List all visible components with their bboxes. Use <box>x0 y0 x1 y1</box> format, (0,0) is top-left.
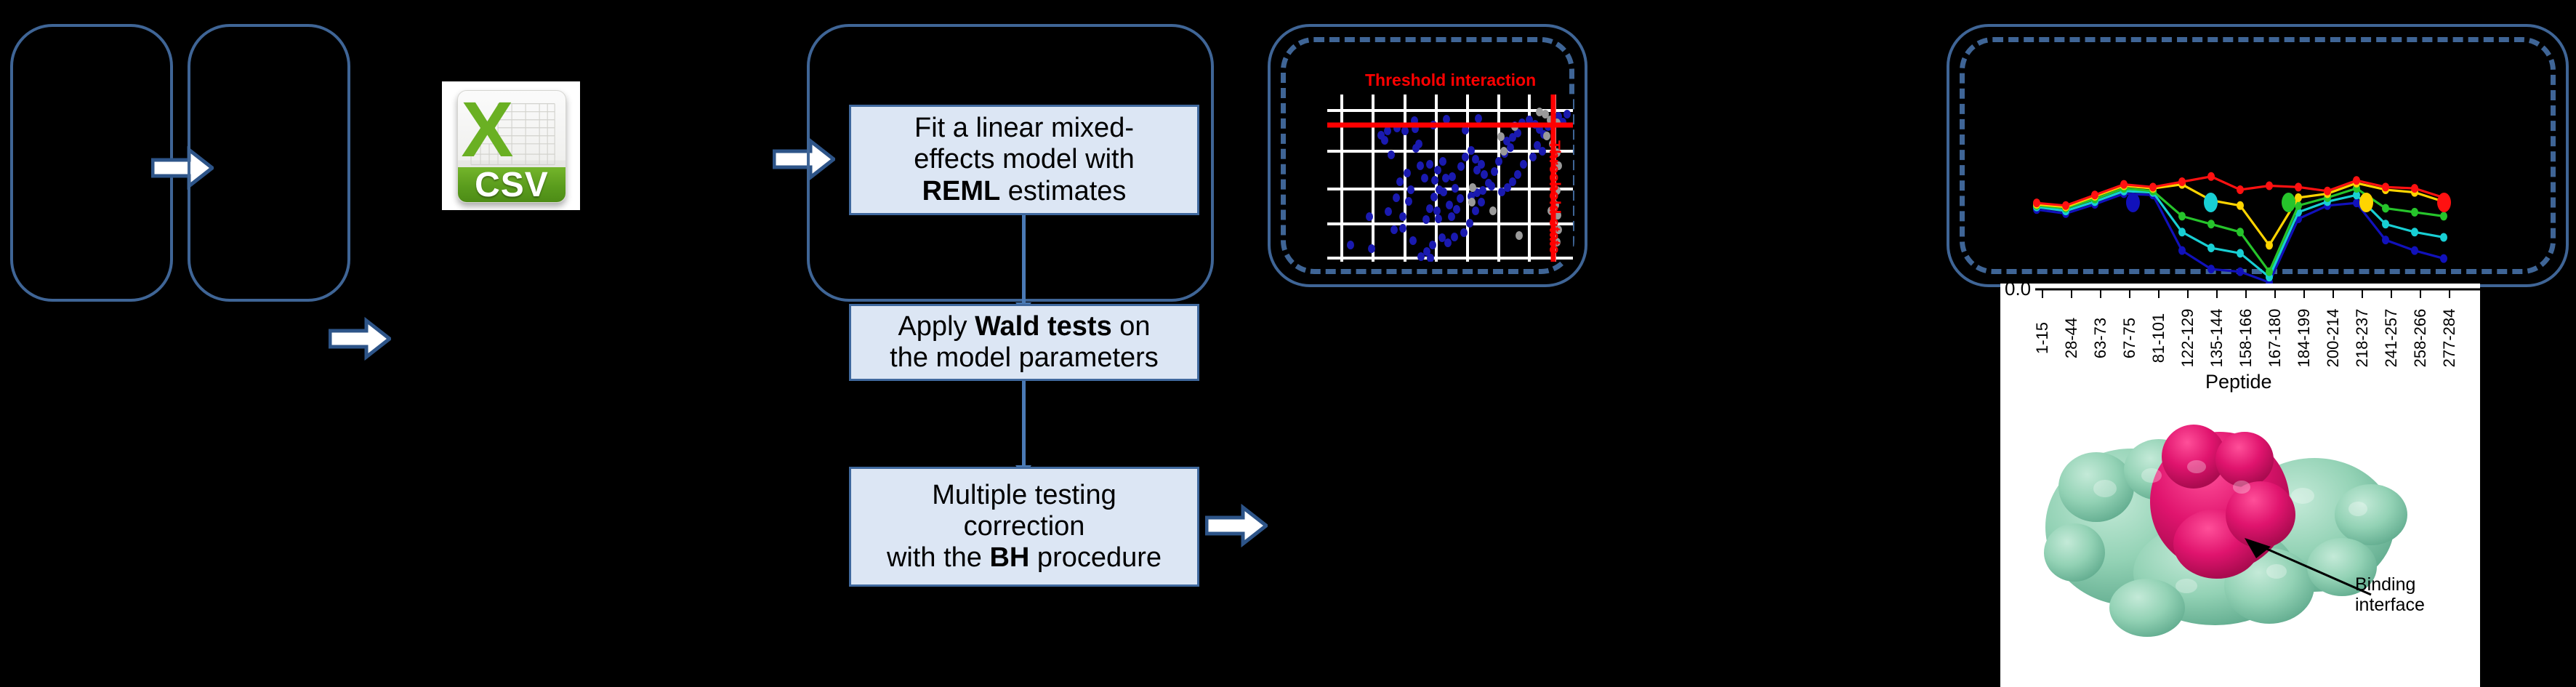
legend-dot-3 <box>2359 193 2373 212</box>
wald-tail: on <box>1112 311 1151 342</box>
peptide-tick-label: 63-73 <box>2091 303 2110 373</box>
series-marker-blue <box>2207 265 2215 273</box>
peptide-tick-label: 158-166 <box>2237 303 2255 373</box>
reml-line3-tail: estimates <box>1000 176 1126 206</box>
legend-dot-2 <box>2282 193 2295 212</box>
series-marker-blue <box>2178 246 2186 255</box>
series-marker-cyan <box>2411 228 2418 236</box>
series-marker-red <box>2149 182 2157 191</box>
series-marker-red <box>2295 182 2302 191</box>
csv-input-panel[interactable] <box>188 24 350 302</box>
peptide-axis-title: Peptide <box>2205 371 2272 393</box>
peptide-tick-label: 167-180 <box>2266 303 2285 373</box>
series-marker-green <box>2207 220 2215 228</box>
y-axis-zero-tick: 0.0 <box>2005 284 2031 300</box>
peptide-line-chart <box>1995 145 2503 288</box>
series-marker-red <box>2207 172 2215 181</box>
peptide-structure-card: 0.0 1-1528-4463-7367-7581-101122-129135-… <box>2000 284 2480 687</box>
peptide-tick-label: 184-199 <box>2295 303 2314 373</box>
series-marker-red <box>2178 177 2186 186</box>
bh-line3-tail: procedure <box>1029 542 1162 573</box>
binding-label-line1: Binding <box>2355 574 2425 595</box>
series-marker-red <box>2266 182 2273 190</box>
wald-line2: the model parameters <box>890 342 1159 373</box>
series-marker-red <box>2062 201 2069 210</box>
series-marker-red <box>2382 182 2389 191</box>
flowbox-bh[interactable]: Multiple testing correction with the BH … <box>849 467 1199 587</box>
legend-dot-4 <box>2437 193 2451 212</box>
threshold-interaction-label: Threshold interaction <box>1365 71 1536 90</box>
peptide-tick-labels: 1-1528-4463-7367-7581-101122-129135-1441… <box>2000 300 2480 369</box>
peptide-tick-label: 67-75 <box>2120 303 2139 373</box>
connector-wald-to-bh <box>1022 381 1026 467</box>
series-marker-cyan <box>2237 249 2244 257</box>
series-marker-red <box>2120 180 2128 189</box>
flowbox-wald[interactable]: Apply Wald tests on the model parameters <box>849 304 1199 381</box>
bh-bold: BH <box>989 542 1029 573</box>
binding-label-line2: interface <box>2355 595 2425 615</box>
peptide-tick-label: 28-44 <box>2062 303 2081 373</box>
peptide-tick-label: 200-214 <box>2324 303 2343 373</box>
legend-dot-1 <box>2204 193 2218 212</box>
series-marker-red <box>2411 184 2418 193</box>
series-marker-cyan <box>2382 220 2389 228</box>
series-marker-green <box>2237 228 2244 236</box>
volcano-scatter <box>1327 95 1573 262</box>
reml-line1: Fit a linear mixed- <box>914 113 1134 143</box>
wald-lead: Apply <box>898 311 975 342</box>
series-marker-blue <box>2411 246 2418 255</box>
peptide-tick-label: 258-266 <box>2411 303 2430 373</box>
bh-line2: correction <box>964 511 1085 542</box>
csv-label: CSV <box>475 165 549 203</box>
bh-line3-lead: with the <box>887 542 990 573</box>
peptide-tick-label: 277-284 <box>2440 303 2459 373</box>
arrow-flow-to-volcano <box>1205 503 1268 548</box>
series-marker-blue <box>2440 254 2447 263</box>
series-marker-green <box>2266 268 2273 276</box>
series-marker-red <box>2091 190 2098 199</box>
connector-reml-to-wald <box>1022 215 1026 304</box>
wald-bold: Wald tests <box>975 311 1112 342</box>
series-marker-green <box>2178 212 2186 220</box>
series-marker-blue <box>2382 236 2389 244</box>
series-marker-red <box>2033 198 2040 207</box>
flowbox-reml[interactable]: Fit a linear mixed- effects model with R… <box>849 105 1199 215</box>
peptide-tick-label: 135-144 <box>2207 303 2226 373</box>
volcano-figure: Threshold interaction <box>1268 24 1587 287</box>
empty-data-panel[interactable] <box>10 24 173 302</box>
peptide-tick-label: 218-237 <box>2353 303 2372 373</box>
legend-dot-0 <box>2126 193 2140 212</box>
bh-line1: Multiple testing <box>932 480 1116 510</box>
peptide-tick-label: 1-15 <box>2033 303 2052 373</box>
threshold-state-label: Threshold state <box>1545 140 1563 254</box>
peptide-tick-label: 81-101 <box>2149 303 2168 373</box>
peptide-tick-label: 241-257 <box>2382 303 2401 373</box>
series-marker-yellow <box>2266 241 2273 249</box>
series-marker-blue <box>2237 268 2244 276</box>
csv-label-band: CSV <box>458 167 565 201</box>
series-marker-cyan <box>2440 233 2447 241</box>
series-marker-cyan <box>2207 244 2215 252</box>
peptide-chart-legend <box>2126 193 2451 212</box>
csv-x-letter: X <box>461 93 499 140</box>
arrow-data-to-csv <box>329 316 391 361</box>
peptide-tick-label: 122-129 <box>2178 303 2197 373</box>
series-marker-green <box>2440 212 2447 220</box>
binding-interface-label: Binding interface <box>2355 574 2425 615</box>
reml-line2: effects model with <box>914 144 1134 174</box>
csv-icon-tile: X CSV <box>457 90 566 202</box>
csv-file-icon[interactable]: X CSV <box>442 81 580 210</box>
series-marker-cyan <box>2178 228 2186 236</box>
series-marker-red <box>2353 176 2360 185</box>
reml-bold: REML <box>922 176 1001 206</box>
